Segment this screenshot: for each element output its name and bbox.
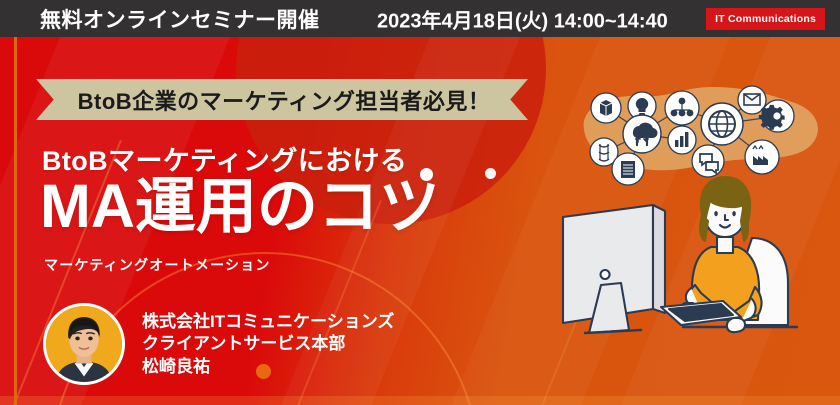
speaker-info: 株式会社ITコミュニケーションズ クライアントサービス本部 松崎良祐 [142, 303, 394, 378]
company-logo-badge: IT Communications [706, 8, 825, 30]
cloud-sync-icon [623, 115, 661, 153]
title-annotation: マーケティングオートメーション [44, 255, 271, 275]
speaker-division: クライアントサービス本部 [142, 333, 394, 355]
org-chart-icon [665, 91, 699, 125]
seminar-headline: 無料オンラインセミナー開催 [40, 4, 320, 34]
factory-icon [745, 140, 779, 174]
network-illustration [566, 72, 834, 190]
left-accent-line [14, 37, 17, 405]
box-icon [591, 93, 621, 123]
speaker-company: 株式会社ITコミュニケーションズ [142, 311, 394, 333]
top-bar: 無料オンラインセミナー開催 2023年4月18日(火) 14:00~14:40 … [0, 0, 840, 37]
person-illustration [545, 175, 840, 405]
avatar [43, 303, 125, 385]
decorative-dot [485, 168, 496, 179]
seminar-banner: 無料オンラインセミナー開催 2023年4月18日(火) 14:00~14:40 … [0, 0, 840, 405]
page-title: MA運用のコツ [40, 176, 440, 237]
seminar-datetime: 2023年4月18日(火) 14:00~14:40 [377, 4, 668, 33]
bar-chart-icon [668, 126, 696, 154]
chat-bubbles-icon [692, 145, 724, 177]
right-hand [727, 318, 745, 332]
globe-icon [701, 103, 743, 145]
speaker-name: 松崎良祐 [142, 356, 394, 378]
target-audience-ribbon: BtoB企業のマーケティング担当者必見！ [36, 79, 528, 120]
speaker-block: 株式会社ITコミュニケーションズ クライアントサービス本部 松崎良祐 [43, 303, 394, 385]
ribbon-label: BtoB企業のマーケティング担当者必見！ [36, 79, 528, 120]
